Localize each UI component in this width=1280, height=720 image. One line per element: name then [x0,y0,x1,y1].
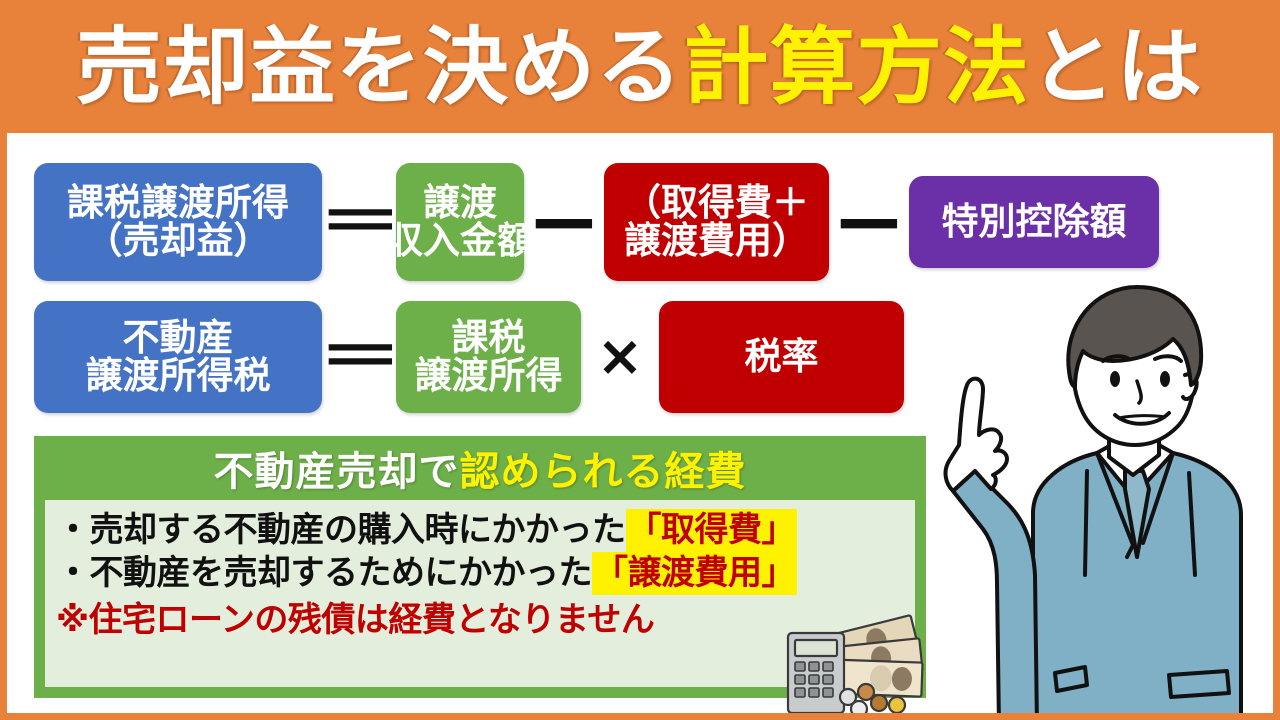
header-banner: 売却益を決める計算方法とは [0,0,1280,133]
box-special-deduction-line1: 特別控除額 [942,203,1127,241]
expense-bullet-1-marker: ・ [56,510,90,550]
box-acquisition-and-transfer-costs: （取得費＋ 譲渡費用） [604,163,829,281]
box-costs-line1: （取得費＋ [624,184,809,222]
box-taxable-transfer-income-line2: 譲渡所得 [415,357,563,395]
box-tax-rate: 税率 [659,301,904,413]
box-taxable-capital-gain-line2: （売却益） [86,222,271,260]
box-transfer-income-line1: 譲渡 [423,184,497,222]
operator-equals-1: ＝ [309,191,409,253]
calculator-money-icon [780,611,942,717]
infographic-page: 売却益を決める計算方法とは 課税譲渡所得 （売却益） ＝ 譲渡 収入金額 − （… [0,0,1280,720]
expense-bullet-2-highlight: 「譲渡費用」 [592,552,797,595]
box-taxable-capital-gain: 課税譲渡所得 （売却益） [34,163,322,281]
allowed-expenses-title-highlight: 認められる経費 [460,439,747,497]
expense-bullet-2-marker: ・ [56,553,90,593]
box-taxable-transfer-income: 課税 譲渡所得 [396,301,581,413]
operator-minus-1: − [504,182,624,263]
expense-bullet-1: ・売却する不動産の購入時にかかった「取得費」 [45,509,915,552]
box-property-transfer-income-tax-line2: 譲渡所得税 [86,357,271,395]
allowed-expenses-title: 不動産売却で認められる経費 [34,436,926,500]
page-title-highlight: 計算方法 [683,18,1030,116]
box-property-transfer-income-tax-line1: 不動産 [123,319,234,357]
expense-bullet-1-highlight: 「取得費」 [626,509,798,552]
operator-minus-2: − [809,182,929,263]
expense-bullet-2: ・不動産を売却するためにかかった「譲渡費用」 [45,552,915,595]
box-special-deduction: 特別控除額 [909,176,1159,268]
box-taxable-capital-gain-line1: 課税譲渡所得 [67,184,289,222]
businessman-pointing-icon [937,275,1280,720]
operator-multiply: × [581,329,659,385]
box-tax-rate-line1: 税率 [745,338,819,376]
box-taxable-transfer-income-line1: 課税 [452,319,526,357]
box-costs-line2: 譲渡費用） [624,222,809,260]
page-title-part3: とは [1030,18,1203,116]
page-title: 売却益を決める計算方法とは [76,25,1203,109]
formula-row-capital-gain: 課税譲渡所得 （売却益） ＝ 譲渡 収入金額 − （取得費＋ 譲渡費用） − 特… [34,160,1159,284]
page-title-part1: 売却益を決める [76,18,683,116]
expense-bullet-2-text: 不動産を売却するためにかかった [90,553,593,593]
allowed-expenses-title-part1: 不動産売却で [214,439,460,497]
formula-row-property-transfer-tax: 不動産 譲渡所得税 ＝ 課税 譲渡所得 × 税率 [34,295,904,419]
box-property-transfer-income-tax: 不動産 譲渡所得税 [34,301,322,413]
expense-bullet-1-text: 売却する不動産の購入時にかかった [90,510,626,550]
operator-equals-2: ＝ [309,326,409,388]
